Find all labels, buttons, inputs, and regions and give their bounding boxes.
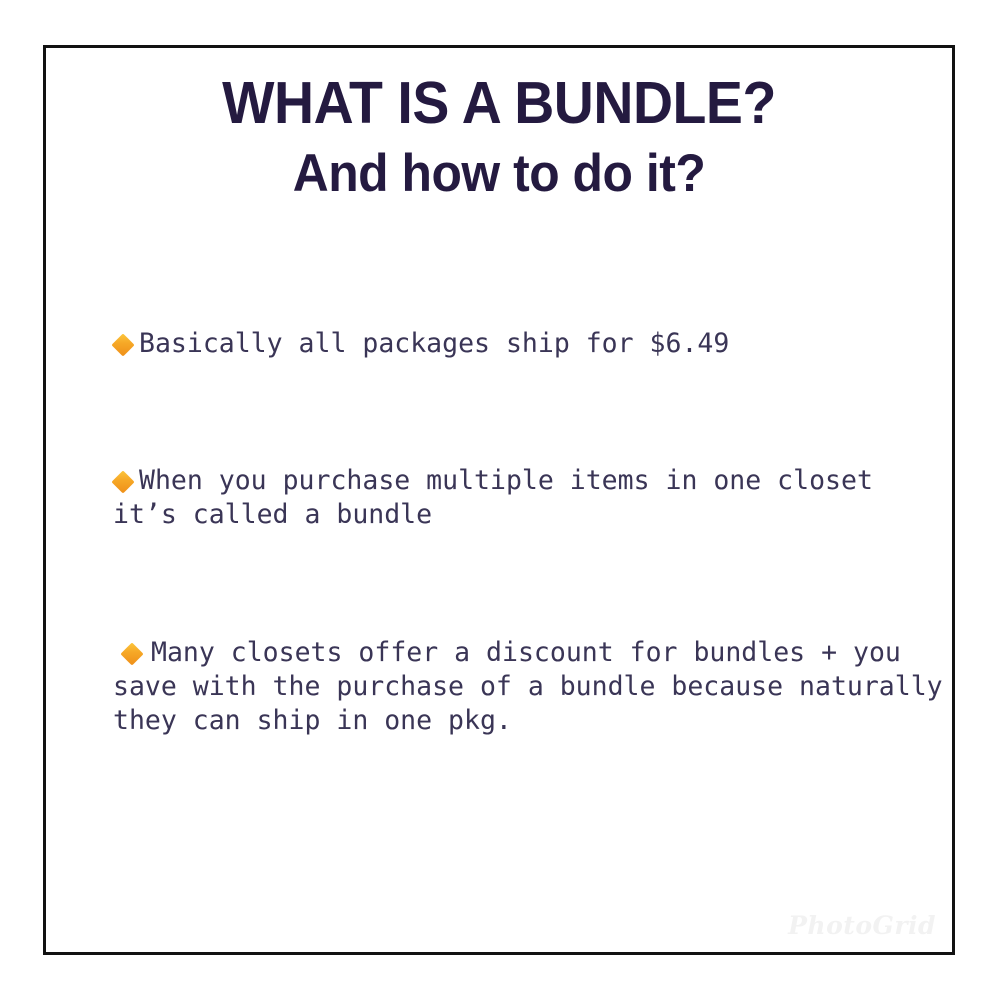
orange-diamond-icon <box>113 327 139 361</box>
poster-frame: WHAT IS A BUNDLE? And how to do it? Basi… <box>43 45 955 955</box>
bullet-item-3-text: Many closets offer a discount for bundle… <box>113 637 955 737</box>
bullet-item-3: Many closets offer a discount for bundle… <box>113 636 943 739</box>
page-title-line-1: WHAT IS A BUNDLE? <box>73 74 925 133</box>
bullet-item-1-text: Basically all packages ship for $6.49 <box>139 328 729 359</box>
photogrid-watermark: PhotoGrid <box>788 911 936 940</box>
bullet-item-2-text: When you purchase multiple items in one … <box>113 465 889 530</box>
page-title-line-2: And how to do it? <box>73 147 925 200</box>
orange-diamond-icon <box>113 464 139 498</box>
section-spacer <box>113 841 943 875</box>
title-block: WHAT IS A BUNDLE? And how to do it? <box>46 74 952 200</box>
orange-diamond-icon <box>113 636 151 670</box>
body-text: Basically all packages ship for $6.49 Wh… <box>113 224 943 955</box>
graphic-canvas: WHAT IS A BUNDLE? And how to do it? Basi… <box>0 0 1000 1000</box>
bullet-item-1: Basically all packages ship for $6.49 <box>113 327 943 361</box>
bullet-item-2: When you purchase multiple items in one … <box>113 464 943 533</box>
